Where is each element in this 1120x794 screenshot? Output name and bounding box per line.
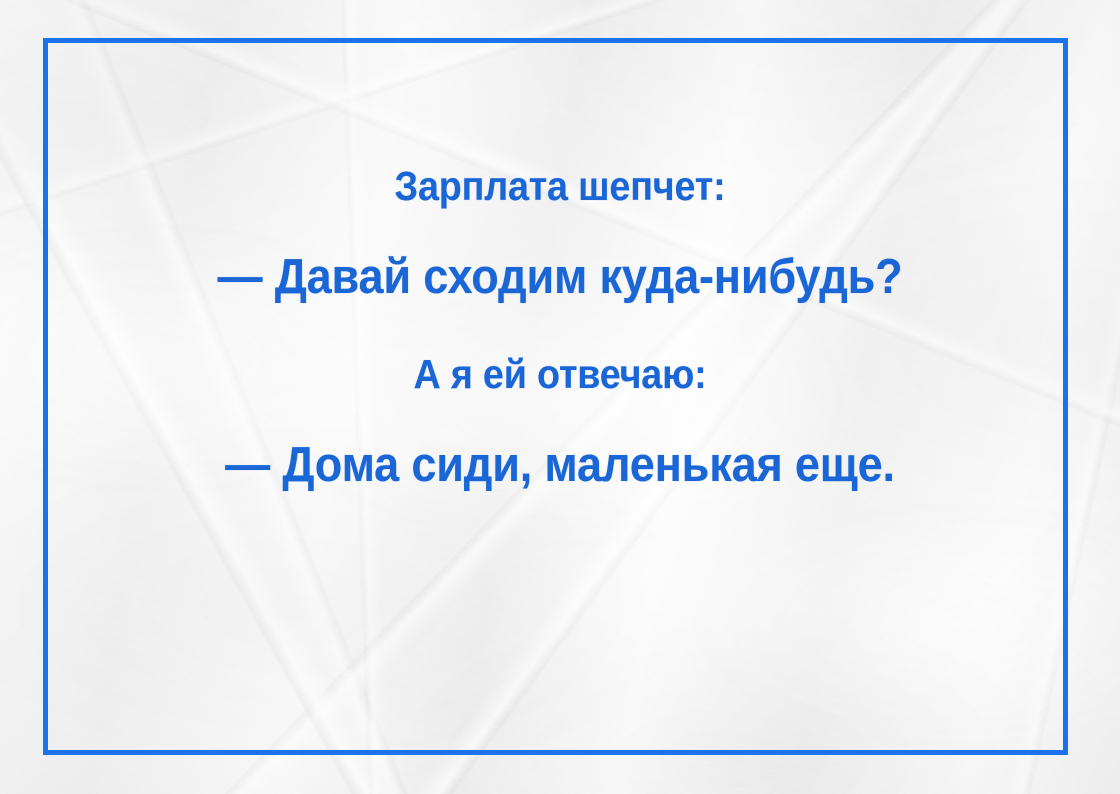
caption-text-block: Зарплата шепчет: — Давай сходим куда-ниб… [60,160,1060,496]
caption-line-4: — Дома сиди, маленькая еще. [100,434,1020,496]
caption-line-1: Зарплата шепчет: [100,160,1020,212]
joke-card-canvas: Зарплата шепчет: — Давай сходим куда-ниб… [0,0,1120,794]
caption-line-2: — Давай сходим куда-нибудь? [100,246,1020,308]
caption-line-3: А я ей отвечаю: [100,348,1020,400]
